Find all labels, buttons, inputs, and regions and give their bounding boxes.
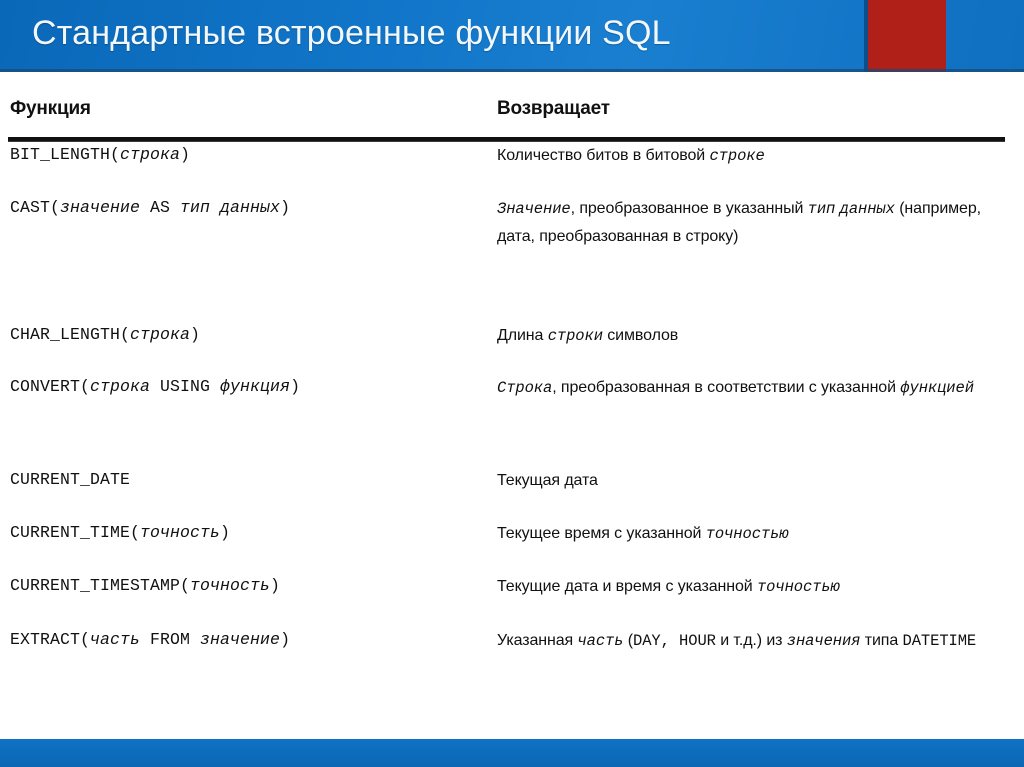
returns-emphasis: строки — [548, 327, 603, 345]
returns-text: Текущее время с указанной — [497, 525, 706, 542]
returns-text: Текущие дата и время с указанной — [497, 578, 757, 595]
cell-function: CURRENT_TIMESTAMP(точность) — [10, 573, 480, 599]
function-keyword-as: AS — [140, 198, 180, 217]
column-header-returns: Возвращает — [497, 98, 610, 120]
cell-returns: Указанная часть (DAY, HOUR и т.д.) из зн… — [497, 627, 1007, 655]
function-keyword-from: FROM — [140, 630, 200, 649]
function-paren: ) — [280, 198, 290, 217]
cell-returns: Текущее время с указанной точностью — [497, 520, 1007, 548]
slide: Стандартные встроенные функции SQL Функц… — [0, 0, 1024, 767]
function-paren: ) — [290, 377, 300, 396]
cell-function: CAST(значение AS тип данных) — [10, 195, 480, 221]
function-argument: функция — [220, 377, 290, 396]
returns-text: , преобразованная в соответствии с указа… — [552, 379, 900, 396]
function-name: CURRENT_DATE — [10, 470, 130, 489]
returns-emphasis: Строка — [497, 379, 552, 397]
returns-emphasis: значения — [787, 632, 861, 650]
function-paren: ) — [180, 145, 190, 164]
returns-text: Указанная — [497, 632, 577, 649]
returns-text: Длина — [497, 327, 548, 344]
returns-text: Текущая дата — [497, 472, 598, 489]
function-name: CURRENT_TIMESTAMP( — [10, 576, 190, 595]
function-name: BIT_LENGTH( — [10, 145, 120, 164]
returns-text: символов — [603, 327, 678, 344]
cell-returns: Значение, преобразованное в указанный ти… — [497, 195, 1007, 250]
function-argument: строка — [90, 377, 150, 396]
returns-text: типа — [860, 632, 902, 649]
cell-function: EXTRACT(часть FROM значение) — [10, 627, 480, 653]
returns-text: Количество битов в битовой — [497, 147, 709, 164]
function-argument: часть — [90, 630, 140, 649]
cell-function: CHAR_LENGTH(строка) — [10, 322, 480, 348]
returns-text: и т.д.) из — [716, 632, 787, 649]
function-name: CURRENT_TIME( — [10, 523, 140, 542]
returns-emphasis: часть — [577, 632, 623, 650]
returns-code: DAY, HOUR — [633, 632, 716, 650]
function-argument: тип данных — [180, 198, 280, 217]
cell-returns: Текущие дата и время с указанной точност… — [497, 573, 1007, 601]
function-name: CAST( — [10, 198, 60, 217]
cell-returns: Текущая дата — [497, 467, 1007, 494]
cell-returns: Строка, преобразованная в соответствии с… — [497, 374, 1007, 402]
function-argument: точность — [190, 576, 270, 595]
returns-emphasis: строке — [709, 147, 764, 165]
returns-emphasis: данных — [840, 200, 895, 218]
cell-function: CURRENT_DATE — [10, 467, 480, 493]
returns-emphasis: функцией — [900, 379, 974, 397]
function-paren: ) — [190, 325, 200, 344]
function-argument: значение — [200, 630, 280, 649]
function-argument: строка — [120, 145, 180, 164]
returns-emphasis: Значение — [497, 200, 571, 218]
function-name: CHAR_LENGTH( — [10, 325, 130, 344]
table-header-row: Функция Возвращает — [0, 72, 1024, 139]
column-header-function: Функция — [10, 98, 91, 120]
functions-table: Функция Возвращает BIT_LENGTH(строка) Ко… — [0, 72, 1024, 739]
returns-emphasis: тип — [808, 200, 836, 218]
function-argument: строка — [130, 325, 190, 344]
function-paren: ) — [280, 630, 290, 649]
page-title: Стандартные встроенные функции SQL — [32, 7, 932, 59]
function-name: CONVERT( — [10, 377, 90, 396]
cell-function: BIT_LENGTH(строка) — [10, 142, 480, 168]
returns-text: , преобразованное в указанный — [571, 200, 808, 217]
slide-footer-band — [0, 739, 1024, 767]
function-paren: ) — [220, 523, 230, 542]
cell-returns: Количество битов в битовой строке — [497, 142, 1007, 170]
slide-header-band: Стандартные встроенные функции SQL — [0, 0, 1024, 72]
function-keyword-using: USING — [150, 377, 220, 396]
returns-text: ( — [623, 632, 633, 649]
function-argument: точность — [140, 523, 220, 542]
function-name: EXTRACT( — [10, 630, 90, 649]
returns-emphasis: точностью — [757, 578, 840, 596]
cell-returns: Длина строки символов — [497, 322, 1007, 350]
returns-emphasis: точностью — [706, 525, 789, 543]
function-paren: ) — [270, 576, 280, 595]
cell-function: CURRENT_TIME(точность) — [10, 520, 480, 546]
returns-code: DATETIME — [903, 632, 977, 650]
function-argument: значение — [60, 198, 140, 217]
cell-function: CONVERT(строка USING функция) — [10, 374, 480, 400]
